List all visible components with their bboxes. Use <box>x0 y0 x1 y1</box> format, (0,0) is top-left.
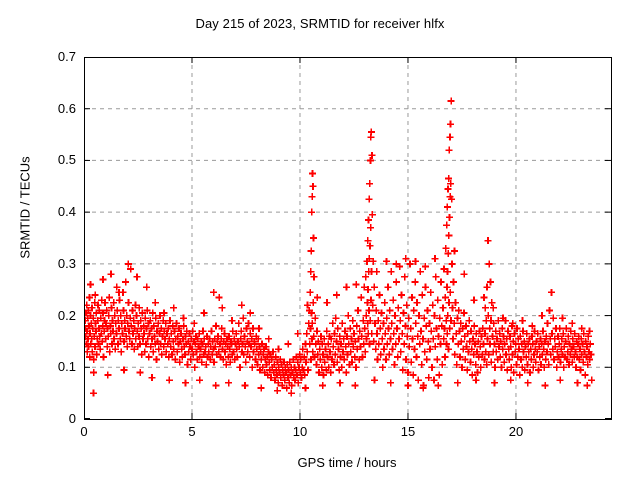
x-tick-label: 10 <box>280 424 320 439</box>
plot-frame <box>84 57 612 420</box>
x-tick-label: 20 <box>496 424 536 439</box>
y-tick-label: 0.5 <box>14 152 76 167</box>
x-tick-label: 15 <box>388 424 428 439</box>
x-tick-label: 0 <box>64 424 104 439</box>
x-tick-label: 5 <box>172 424 212 439</box>
chart-title: Day 215 of 2023, SRMTID for receiver hlf… <box>0 16 640 31</box>
y-tick-label: 0.4 <box>14 204 76 219</box>
y-tick-label: 0.6 <box>14 101 76 116</box>
srmtid-scatter-chart: Day 215 of 2023, SRMTID for receiver hlf… <box>0 0 640 480</box>
y-tick-label: 0.2 <box>14 308 76 323</box>
y-tick-label: 0.3 <box>14 256 76 271</box>
y-tick-label: 0.1 <box>14 359 76 374</box>
x-axis-label: GPS time / hours <box>84 455 610 470</box>
y-tick-label: 0.7 <box>14 49 76 64</box>
